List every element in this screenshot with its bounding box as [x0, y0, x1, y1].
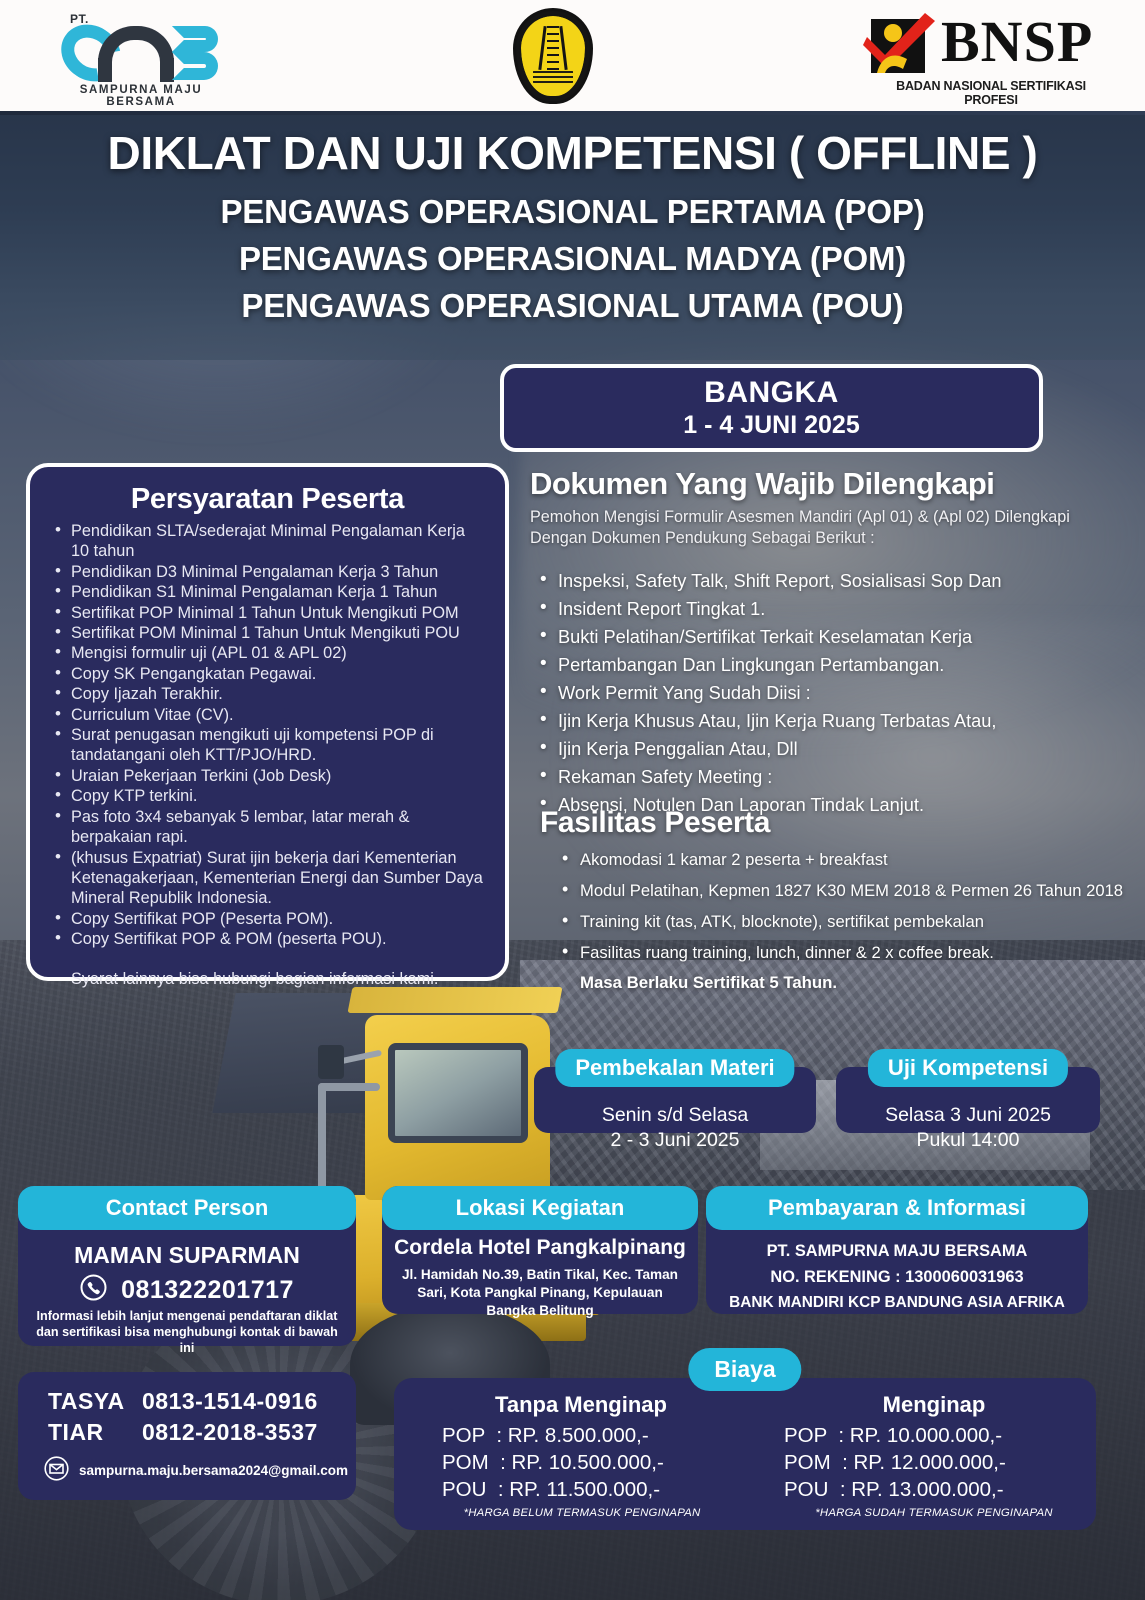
pricing-footnote-menginap: *HARGA SUDAH TERMASUK PENGINAPAN	[784, 1507, 1084, 1519]
list-item: Pendidikan SLTA/sederajat Minimal Pengal…	[52, 521, 483, 562]
event-dates: 1 - 4 JUNI 2025	[683, 411, 860, 440]
phone-icon	[80, 1274, 107, 1306]
list-item: Pertambangan Dan Lingkungan Pertambangan…	[530, 651, 1130, 679]
list-item: Copy SK Pengangkatan Pegawai.	[52, 664, 483, 684]
documents-heading: Dokumen Yang Wajib Dilengkapi	[530, 466, 1130, 502]
pricing-column-menginap: Menginap POP : RP. 10.000.000,- POM : RP…	[784, 1392, 1084, 1519]
bnsp-logo-subtitle: BADAN NASIONAL SERTIFIKASI PROFESI	[869, 79, 1113, 107]
contact-email-row[interactable]: sampurna.maju.bersama2024@gmail.com	[18, 1446, 356, 1484]
requirements-list: Pendidikan SLTA/sederajat Minimal Pengal…	[52, 521, 483, 950]
esdm-logo-caption	[505, 6, 601, 106]
documents-section: Dokumen Yang Wajib Dilengkapi Pemohon Me…	[530, 466, 1130, 819]
bnsp-logo-checkmark-icon	[863, 11, 941, 73]
list-item: Akomodasi 1 kamar 2 peserta + breakfast	[540, 849, 1140, 870]
requirements-heading: Persyaratan Peserta	[52, 483, 483, 516]
list-item: Sertifikat POP Minimal 1 Tahun Untuk Men…	[52, 603, 483, 623]
contact-person-phone-number[interactable]: 081322201717	[121, 1276, 294, 1305]
schedule-section: Pembekalan Materi Senin s/d Selasa 2 - 3…	[534, 1045, 1140, 1133]
contact-row-tiar[interactable]: TIAR 0812-2018-3537	[18, 1415, 356, 1446]
bnsp-logo-wordmark: BNSP	[941, 11, 1093, 73]
list-item: Uraian Pekerjaan Terkini (Job Desk)	[52, 766, 483, 786]
pricing-rows-tanpa-menginap: POP : RP. 8.500.000,- POM : RP. 10.500.0…	[442, 1422, 742, 1503]
location-venue-name: Cordela Hotel Pangkalpinang	[382, 1236, 698, 1260]
logo-header-bar: PT. SAMPURNA MAJU BERSAMA	[0, 0, 1145, 112]
list-item: Fasilitas ruang training, lunch, dinner …	[540, 942, 1140, 963]
payment-header: Pembayaran & Informasi	[706, 1186, 1088, 1230]
list-item: Pendidikan D3 Minimal Pengalaman Kerja 3…	[52, 562, 483, 582]
list-item: Inspeksi, Safety Talk, Shift Report, Sos…	[530, 567, 1130, 595]
schedule-card-pembekalan-line2: 2 - 3 Juni 2025	[534, 1128, 816, 1153]
contact-person-name: MAMAN SUPARMAN	[18, 1242, 356, 1269]
pricing-header: Biaya	[688, 1348, 801, 1391]
event-city: BANGKA	[704, 376, 839, 410]
esdm-logo	[505, 6, 601, 106]
pricing-rows-menginap: POP : RP. 10.000.000,- POM : RP. 12.000.…	[784, 1422, 1084, 1503]
smb-logo-mark	[60, 24, 220, 80]
schedule-card-uji-line1: Selasa 3 Juni 2025	[836, 1103, 1100, 1128]
list-item: Surat penugasan mengikuti uji kompetensi…	[52, 725, 483, 766]
poster-subtitle-pou: PENGAWAS OPERASIONAL UTAMA (POU)	[0, 287, 1145, 325]
list-item: Copy Sertifikat POP & POM (peserta POU).	[52, 929, 483, 949]
envelope-icon	[44, 1456, 69, 1484]
schedule-card-uji: Uji Kompetensi Selasa 3 Juni 2025 Pukul …	[836, 1067, 1100, 1133]
pricing-footnote-tanpa-menginap: *HARGA BELUM TERMASUK PENGINAPAN	[422, 1507, 742, 1519]
list-item: Rekaman Safety Meeting :	[530, 763, 1130, 791]
list-item: Bukti Pelatihan/Sertifikat Terkait Kesel…	[530, 623, 1130, 651]
list-item: Pendidikan S1 Minimal Pengalaman Kerja 1…	[52, 582, 483, 602]
list-item: Copy Sertifikat POP (Peserta POM).	[52, 909, 483, 929]
pricing-card: Biaya Tanpa Menginap POP : RP. 8.500.000…	[394, 1378, 1096, 1530]
documents-lead-text: Pemohon Mengisi Formulir Asesmen Mandiri…	[530, 507, 1130, 549]
smb-logo: PT. SAMPURNA MAJU BERSAMA	[32, 8, 242, 104]
contact-person-card: Contact Person MAMAN SUPARMAN 0813222017…	[18, 1186, 356, 1346]
schedule-card-pembekalan-line1: Senin s/d Selasa	[534, 1103, 816, 1128]
contact-number-tasya[interactable]: 0813-1514-0916	[142, 1388, 318, 1415]
contact-person-header: Contact Person	[18, 1186, 356, 1230]
location-address: Jl. Hamidah No.39, Batin Tikal, Kec. Tam…	[396, 1266, 684, 1320]
schedule-card-pembekalan: Pembekalan Materi Senin s/d Selasa 2 - 3…	[534, 1067, 816, 1133]
payment-bank-name: BANK MANDIRI KCP BANDUNG ASIA AFRIKA	[706, 1294, 1088, 1312]
list-item: Ijin Kerja Khusus Atau, Ijin Kerja Ruang…	[530, 707, 1130, 735]
payment-account-number: NO. REKENING : 1300060031963	[706, 1268, 1088, 1287]
documents-list: Inspeksi, Safety Talk, Shift Report, Sos…	[530, 567, 1130, 819]
poster-root: PT. SAMPURNA MAJU BERSAMA	[0, 0, 1145, 1600]
list-item: Insident Report Tingkat 1.	[530, 595, 1130, 623]
facilities-validity-note: Masa Berlaku Sertifikat 5 Tahun.	[540, 973, 1140, 993]
pricing-column-tanpa-menginap: Tanpa Menginap POP : RP. 8.500.000,- POM…	[442, 1392, 742, 1519]
contact-row-tasya[interactable]: TASYA 0813-1514-0916	[18, 1372, 356, 1415]
list-item: Ijin Kerja Penggalian Atau, Dll	[530, 735, 1130, 763]
location-card: Lokasi Kegiatan Cordela Hotel Pangkalpin…	[382, 1186, 698, 1314]
list-item: (khusus Expatriat) Surat ijin bekerja da…	[52, 848, 483, 909]
facilities-list: Akomodasi 1 kamar 2 peserta + breakfast …	[540, 849, 1140, 963]
smb-logo-company-name: SAMPURNA MAJU BERSAMA	[46, 84, 236, 108]
payment-card: Pembayaran & Informasi PT. SAMPURNA MAJU…	[706, 1186, 1088, 1314]
list-item: Training kit (tas, ATK, blocknote), sert…	[540, 911, 1140, 932]
bnsp-logo: BNSP BADAN NASIONAL SERTIFIKASI PROFESI	[863, 7, 1113, 105]
poster-subtitle-pop: PENGAWAS OPERASIONAL PERTAMA (POP)	[0, 193, 1145, 231]
poster-title-block: DIKLAT DAN UJI KOMPETENSI ( OFFLINE ) PE…	[0, 126, 1145, 325]
contact-label-tiar: TIAR	[48, 1419, 126, 1446]
schedule-card-uji-line2: Pukul 14:00	[836, 1128, 1100, 1153]
list-item: Mengisi formulir uji (APL 01 & APL 02)	[52, 643, 483, 663]
contact-email-address[interactable]: sampurna.maju.bersama2024@gmail.com	[79, 1463, 348, 1478]
pricing-column-title-tanpa-menginap: Tanpa Menginap	[420, 1392, 742, 1418]
contact-person-phone-row[interactable]: 081322201717	[18, 1274, 356, 1306]
requirements-panel: Persyaratan Peserta Pendidikan SLTA/sede…	[26, 463, 509, 981]
list-item: Work Permit Yang Sudah Diisi :	[530, 679, 1130, 707]
schedule-card-uji-title: Uji Kompetensi	[868, 1049, 1068, 1087]
facilities-heading: Fasilitas Peserta	[540, 806, 1140, 840]
contact-number-tiar[interactable]: 0812-2018-3537	[142, 1419, 318, 1446]
location-header: Lokasi Kegiatan	[382, 1186, 698, 1230]
pricing-column-title-menginap: Menginap	[784, 1392, 1084, 1418]
contact-label-tasya: TASYA	[48, 1388, 126, 1415]
contact-person-blurb: Informasi lebih lanjut mengenai pendafta…	[34, 1308, 340, 1356]
list-item: Curriculum Vitae (CV).	[52, 705, 483, 725]
secondary-contacts-card: TASYA 0813-1514-0916 TIAR 0812-2018-3537…	[18, 1372, 356, 1500]
list-item: Copy KTP terkini.	[52, 786, 483, 806]
schedule-card-pembekalan-title: Pembekalan Materi	[555, 1049, 794, 1087]
list-item: Pas foto 3x4 sebanyak 5 lembar, latar me…	[52, 807, 483, 848]
list-item: Sertifikat POM Minimal 1 Tahun Untuk Men…	[52, 623, 483, 643]
event-city-date-box: BANGKA 1 - 4 JUNI 2025	[500, 364, 1043, 452]
facilities-section: Fasilitas Peserta Akomodasi 1 kamar 2 pe…	[540, 806, 1140, 993]
requirements-note: Syarat lainnya bisa hubungi bagian infor…	[52, 970, 483, 989]
payment-company-name: PT. SAMPURNA MAJU BERSAMA	[706, 1242, 1088, 1261]
poster-main-title: DIKLAT DAN UJI KOMPETENSI ( OFFLINE )	[0, 126, 1145, 180]
poster-subtitle-pom: PENGAWAS OPERASIONAL MADYA (POM)	[0, 240, 1145, 278]
list-item: Copy Ijazah Terakhir.	[52, 684, 483, 704]
list-item: Modul Pelatihan, Kepmen 1827 K30 MEM 201…	[540, 880, 1140, 901]
